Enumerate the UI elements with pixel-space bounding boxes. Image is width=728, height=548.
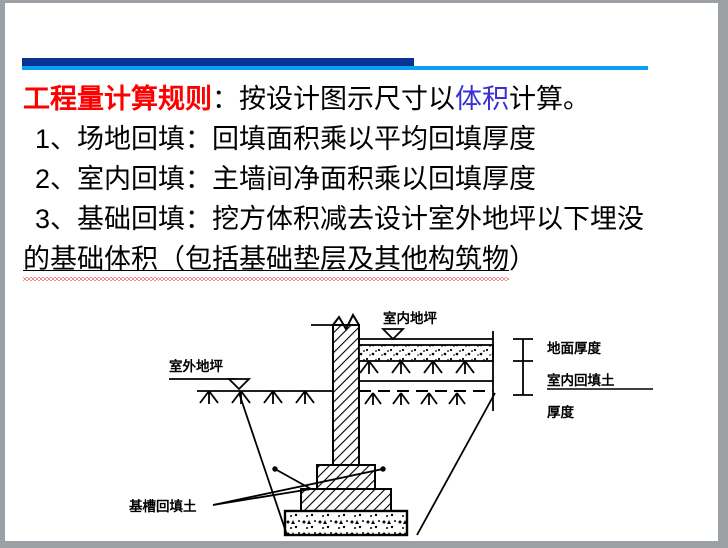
outdoor-ground-hatch — [200, 391, 314, 404]
header-rule-light — [22, 66, 648, 70]
rule-3-name: 基础回填 — [77, 204, 185, 234]
title-highlight: 体积 — [455, 84, 509, 114]
title-line: 工程量计算规则：按设计图示尺寸以体积计算。 — [23, 79, 713, 119]
title-separator: ：按设计图示尺寸以 — [212, 84, 455, 114]
stepped-footing — [301, 465, 391, 511]
title-emphasis: 工程量计算规则 — [23, 84, 212, 114]
rule-3-colon: ： — [185, 204, 212, 234]
dimension-extension-lines — [493, 331, 533, 411]
outdoor-grade-line — [169, 379, 333, 404]
concrete-cushion — [285, 511, 407, 535]
rule-1-colon: ： — [185, 124, 212, 154]
rule-item-2: 2、室内回填：主墙间净面积乘以回填厚度 — [23, 159, 713, 199]
title-tail: 计算。 — [509, 84, 590, 114]
rule-1-name: 场地回填 — [77, 124, 185, 154]
label-indoor-grade: 室内地坪 — [383, 310, 437, 327]
label-indoor-backfill-thickness-line1: 室内回填土 — [547, 372, 615, 389]
rule-2-colon: ： — [185, 164, 212, 194]
indoor-backfill-hatch — [360, 361, 474, 374]
indoor-grade-level-symbol — [383, 329, 403, 339]
label-trench-backfill: 基槽回填土 — [129, 498, 197, 515]
label-outdoor-grade: 室外地坪 — [169, 358, 223, 375]
slide-canvas: 工程量计算规则：按设计图示尺寸以体积计算。 1、场地回填：回填面积乘以平均回填厚… — [5, 3, 718, 541]
rule-3-body: 挖方体积减去设计室外地坪以下埋没 — [212, 204, 644, 234]
rule-2-number: 2、 — [35, 164, 77, 194]
foundation-section-diagram: 室外地坪 室内地坪 基槽回填土 地面厚度 室内回填土 厚度 — [125, 303, 705, 541]
label-floor-thickness: 地面厚度 — [547, 340, 601, 357]
diagram-ink: 室外地坪 室内地坪 基槽回填土 地面厚度 室内回填土 厚度 — [129, 310, 653, 535]
rule-1-body: 回填面积乘以平均回填厚度 — [212, 124, 536, 154]
misspelled-text-a: 的基础体积 — [23, 244, 158, 274]
rule-2-name: 室内回填 — [77, 164, 185, 194]
continuation-close-paren: ） — [509, 244, 536, 274]
rule-item-3-continuation: 的基础体积（包括基础垫层及其他构筑物） — [23, 239, 713, 279]
foundation-wall — [311, 315, 359, 465]
header-decoration — [5, 3, 718, 33]
right-backfill-hatch — [365, 393, 465, 405]
indoor-floor-slab — [359, 339, 493, 381]
rule-1-number: 1、 — [35, 124, 77, 154]
rule-2-body: 主墙间净面积乘以回填厚度 — [212, 164, 536, 194]
rule-item-3: 3、基础回填：挖方体积减去设计室外地坪以下埋没 — [23, 199, 713, 239]
misspelled-text-b: （包括基础垫层及其他构筑物 — [158, 244, 509, 274]
header-rule-dark — [22, 58, 414, 66]
rule-item-1: 1、场地回填：回填面积乘以平均回填厚度 — [23, 119, 713, 159]
content-text-block: 工程量计算规则：按设计图示尺寸以体积计算。 1、场地回填：回填面积乘以平均回填厚… — [23, 79, 713, 279]
rule-3-number: 3、 — [35, 204, 77, 234]
label-indoor-backfill-thickness-line2: 厚度 — [547, 404, 575, 421]
